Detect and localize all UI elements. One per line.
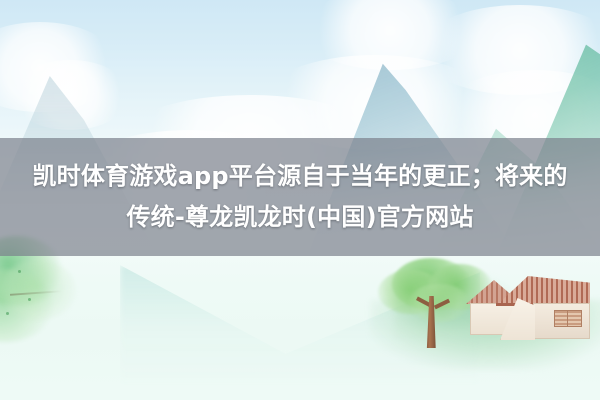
house-roof-front <box>496 276 590 306</box>
banner-image: 凯时体育游戏app平台源自于当年的更正；将来的 传统-尊龙凯龙时(中国)官方网站 <box>0 0 600 400</box>
window-mullion <box>567 310 568 327</box>
house <box>466 276 590 348</box>
caption-line-2: 传统-尊龙凯龙时(中国)官方网站 <box>10 197 590 238</box>
house-window-icon <box>554 310 582 327</box>
caption-band: 凯时体育游戏app平台源自于当年的更正；将来的 传统-尊龙凯龙时(中国)官方网站 <box>0 138 600 256</box>
caption-line-1: 凯时体育游戏app平台源自于当年的更正；将来的 <box>10 156 590 197</box>
